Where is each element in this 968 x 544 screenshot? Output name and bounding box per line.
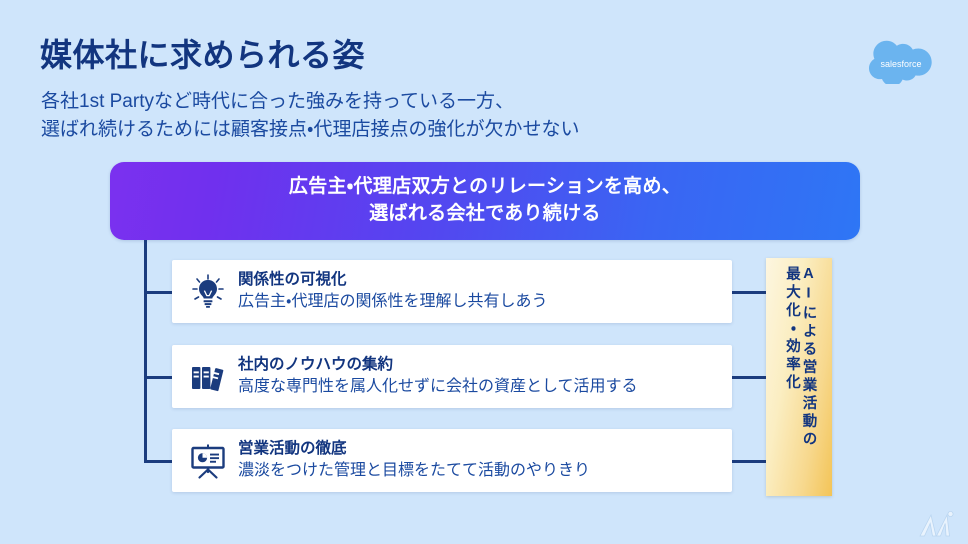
initiative-card-desc: 高度な専門性を属人化せずに会社の資産として活用する: [238, 376, 638, 398]
initiative-card-desc: 濃淡をつけた管理と目標をたてて活動のやりきり: [238, 460, 590, 482]
outcome-panel: AIによる営業活動の 最大化・効率化: [766, 258, 832, 496]
presentation-board-icon: [186, 439, 230, 483]
connector-trunk-vertical: [144, 240, 147, 462]
connector-right-card-1: [731, 291, 767, 294]
page-title: 媒体社に求められる姿: [40, 38, 365, 73]
initiative-card[interactable]: 関係性の可視化 広告主・代理店の関係性を理解し共有しあう: [172, 260, 732, 323]
initiative-card-desc: 広告主・代理店の関係性を理解し共有しあう: [238, 291, 547, 313]
headline-banner-text: 広告主・代理店双方とのリレーションを高め、 選ばれる会社であり続ける: [289, 174, 681, 228]
initiative-card[interactable]: 社内のノウハウの集約 高度な専門性を属人化せずに会社の資産として活用する: [172, 345, 732, 408]
connector-right-card-3: [731, 460, 767, 463]
lightbulb-icon: [186, 270, 230, 314]
initiative-card[interactable]: 営業活動の徹底 濃淡をつけた管理と目標をたてて活動のやりきり: [172, 429, 732, 492]
slide-root: 媒体社に求められる姿 各社1st Partyなど時代に合った強みを持っている一方…: [0, 0, 968, 544]
initiative-card-body: 営業活動の徹底 濃淡をつけた管理と目標をたてて活動のやりきり: [238, 439, 590, 482]
books-icon: [186, 355, 230, 399]
connector-right-card-2: [731, 376, 767, 379]
outcome-panel-main-text: AIによる営業活動の: [801, 266, 816, 449]
m-logo-watermark: [918, 508, 956, 538]
initiative-card-body: 関係性の可視化 広告主・代理店の関係性を理解し共有しあう: [238, 270, 547, 313]
outcome-panel-sub-text: 最大化・効率化: [785, 266, 800, 392]
initiative-card-title: 関係性の可視化: [238, 270, 547, 290]
initiative-card-body: 社内のノウハウの集約 高度な専門性を属人化せずに会社の資産として活用する: [238, 355, 638, 398]
initiative-card-title: 営業活動の徹底: [238, 439, 590, 459]
connector-branch-card-1: [144, 291, 172, 294]
salesforce-wordmark: salesforce: [880, 59, 921, 69]
page-subtitle: 各社1st Partyなど時代に合った強みを持っている一方、 選ばれ続けるために…: [41, 88, 579, 143]
initiative-card-title: 社内のノウハウの集約: [238, 355, 638, 375]
connector-branch-card-3: [144, 460, 172, 463]
salesforce-cloud-logo: salesforce: [868, 40, 936, 84]
connector-branch-card-2: [144, 376, 172, 379]
headline-banner: 広告主・代理店双方とのリレーションを高め、 選ばれる会社であり続ける: [110, 162, 860, 240]
